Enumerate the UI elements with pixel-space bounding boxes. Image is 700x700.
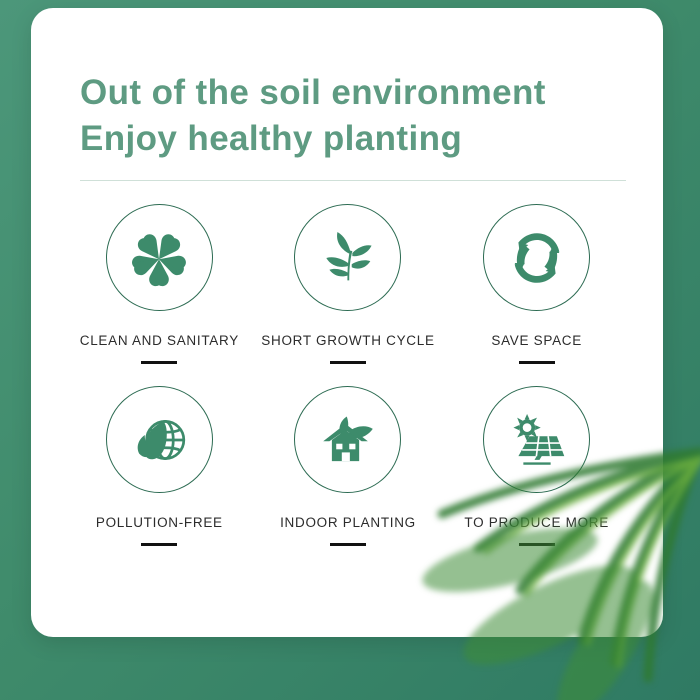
feature-item-clean-and-sanitary: CLEAN AND SANITARY bbox=[65, 204, 254, 364]
feature-underline bbox=[330, 543, 366, 546]
poster-background: Out of the soil environment Enjoy health… bbox=[0, 0, 700, 700]
icon-badge bbox=[106, 204, 213, 311]
content-card: Out of the soil environment Enjoy health… bbox=[31, 8, 663, 637]
feature-underline bbox=[330, 361, 366, 364]
sun-solar-panel-icon bbox=[506, 409, 568, 471]
icon-badge bbox=[294, 386, 401, 493]
icon-badge bbox=[294, 204, 401, 311]
feature-label: SAVE SPACE bbox=[491, 333, 582, 348]
icon-badge bbox=[483, 386, 590, 493]
feature-item-pollution-free: POLLUTION-FREE bbox=[65, 386, 254, 546]
feature-item-save-space: SAVE SPACE bbox=[442, 204, 631, 364]
feature-underline bbox=[519, 543, 555, 546]
sprout-plant-icon bbox=[317, 227, 379, 289]
feature-label: SHORT GROWTH CYCLE bbox=[261, 333, 434, 348]
feature-underline bbox=[141, 361, 177, 364]
feature-label: INDOOR PLANTING bbox=[280, 515, 416, 530]
feature-label: TO PRODUCE MORE bbox=[464, 515, 609, 530]
feature-label: CLEAN AND SANITARY bbox=[80, 333, 239, 348]
page-title: Out of the soil environment Enjoy health… bbox=[80, 70, 640, 161]
recycle-arrows-icon bbox=[506, 227, 568, 289]
clover-flower-icon bbox=[128, 227, 190, 289]
feature-item-to-produce-more: TO PRODUCE MORE bbox=[442, 386, 631, 546]
feature-underline bbox=[519, 361, 555, 364]
feature-label: POLLUTION-FREE bbox=[96, 515, 223, 530]
house-plant-icon bbox=[317, 409, 379, 471]
feature-grid: CLEAN AND SANITARY bbox=[65, 204, 631, 546]
feature-item-short-growth-cycle: SHORT GROWTH CYCLE bbox=[254, 204, 443, 364]
globe-leaf-icon bbox=[128, 409, 190, 471]
icon-badge bbox=[483, 204, 590, 311]
heading-divider bbox=[80, 180, 626, 181]
feature-item-indoor-planting: INDOOR PLANTING bbox=[254, 386, 443, 546]
icon-badge bbox=[106, 386, 213, 493]
feature-underline bbox=[141, 543, 177, 546]
